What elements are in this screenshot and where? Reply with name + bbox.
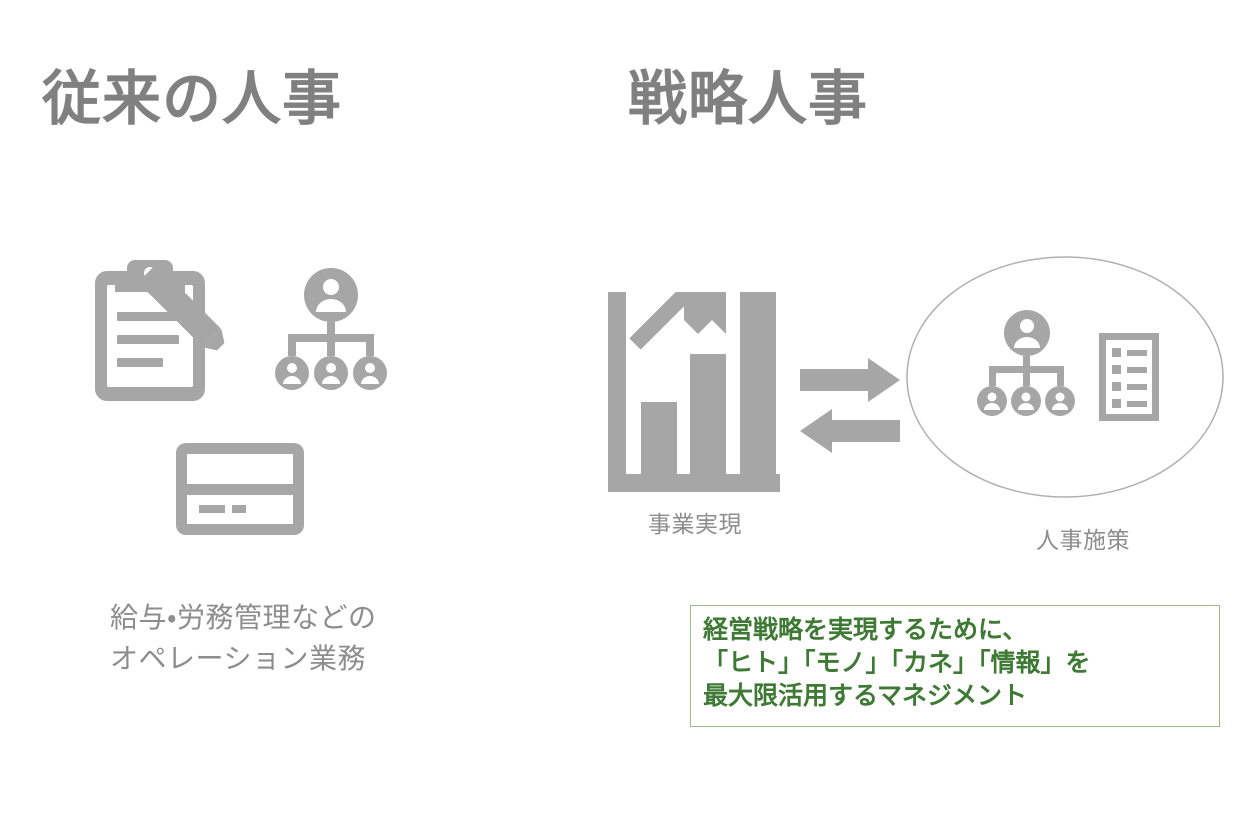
heading-traditional-hr: 従来の人事 — [42, 70, 342, 129]
slide-canvas: 従来の人事 — [0, 0, 1260, 840]
org-chart-icon — [266, 268, 396, 392]
clipboard-pencil-icon — [95, 255, 229, 403]
hr-policy-ellipse-icon — [905, 255, 1225, 500]
strategic-hr-definition-box: 経営戦略を実現するために、 「ヒト」「モノ」「カネ」「情報」を 最大限活用するマ… — [690, 605, 1220, 727]
caption-traditional-hr: 給与・労務管理などの オペレーション業務 — [110, 598, 377, 679]
caption-business-realization: 事業実現 — [648, 505, 742, 539]
credit-card-icon — [176, 443, 304, 535]
exchange-arrows-icon — [798, 358, 902, 454]
bar-chart-growth-icon — [608, 292, 780, 492]
strategic-hr-definition-text: 経営戦略を実現するために、 「ヒト」「モノ」「カネ」「情報」を 最大限活用するマ… — [703, 614, 1219, 713]
caption-hr-policy: 人事施策 — [1036, 521, 1130, 555]
heading-strategic-hr: 戦略人事 — [628, 70, 868, 129]
